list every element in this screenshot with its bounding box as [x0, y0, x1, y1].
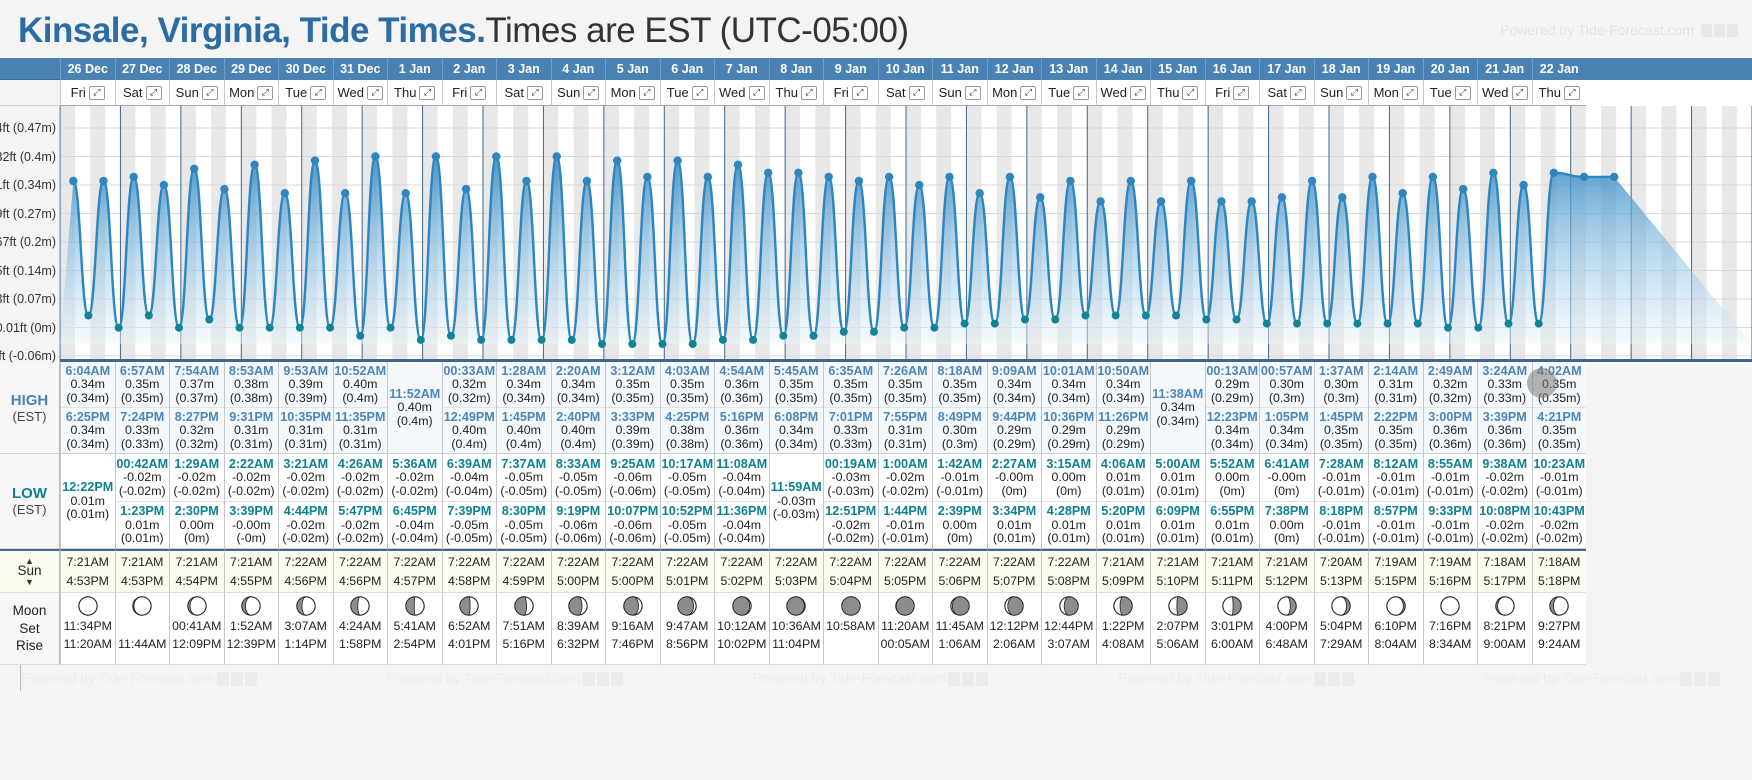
date-header-cell[interactable]: 4 Jan	[551, 58, 606, 80]
moon-rise-time: 5:16PM	[503, 636, 545, 654]
sunrise-time: 7:21AM	[1266, 553, 1308, 571]
tide-height-alt: (0.33m)	[1483, 392, 1526, 405]
tide-time: 1:28AM	[501, 365, 546, 379]
tide-height: -0.04m	[722, 471, 761, 484]
expand-day-icon[interactable]: ⤢	[202, 86, 218, 100]
expand-day-icon[interactable]: ⤢	[89, 86, 105, 100]
tide-time: 9:53AM	[283, 365, 328, 379]
high-tide-label: HIGH (EST)	[0, 362, 60, 454]
weekday-cell: Thu⤢	[769, 80, 824, 106]
date-header-cell[interactable]: 3 Jan	[496, 58, 551, 80]
moon-phase-icon	[731, 595, 753, 617]
tide-height: 0.01m	[1161, 519, 1195, 532]
expand-day-icon[interactable]: ⤢	[749, 86, 765, 100]
tide-time: 5:00AM	[1155, 458, 1200, 472]
sunset-time: 5:16PM	[1429, 572, 1471, 590]
tide-height: 0.31m	[289, 424, 323, 437]
sun-cell: 7:21AM5:09PM	[1096, 549, 1151, 593]
tide-height: 0.32m	[452, 378, 486, 391]
tide-height-alt: (-0.01m)	[936, 485, 983, 498]
tide-height-alt: (0.01m)	[1102, 485, 1145, 498]
low-tide-point	[84, 312, 92, 320]
high-tide-point	[190, 165, 198, 173]
expand-day-icon[interactable]: ⤢	[367, 86, 383, 100]
expand-day-icon[interactable]: ⤢	[1402, 86, 1418, 100]
tide-height: -0.01m	[886, 519, 925, 532]
tide-slot: 4:44PM-0.02m(-0.02m)	[279, 501, 333, 549]
tide-time: 6:09PM	[1156, 505, 1200, 519]
tide-time: 6:55PM	[1210, 505, 1254, 519]
sun-cell: 7:21AM4:53PM	[115, 549, 170, 593]
watermark: Powered by Tide-Forecast.com	[387, 670, 623, 686]
high-tide-point	[220, 185, 228, 193]
tide-height: 0.29m	[1052, 424, 1086, 437]
tide-height-alt: (0.34m)	[66, 438, 109, 451]
tide-height: 0.40m	[452, 424, 486, 437]
moon-cell: 8:21PM9:00AM	[1477, 593, 1532, 665]
tide-slot: 1:44PM-0.01m(-0.01m)	[879, 501, 933, 549]
tide-time: 7:38PM	[1265, 505, 1309, 519]
weekday-label: Mon	[1374, 85, 1399, 100]
moon-phase-icon	[840, 595, 862, 617]
tide-height: -0.02m	[341, 519, 380, 532]
expand-day-icon[interactable]: ⤢	[470, 86, 486, 100]
wave-icon	[217, 672, 229, 686]
tide-height: -0.05m	[668, 519, 707, 532]
moon-set-time: 10:36AM	[772, 618, 821, 636]
tide-time: 2:20AM	[556, 365, 601, 379]
expand-day-icon[interactable]: ⤢	[852, 86, 868, 100]
tide-time: 3:12AM	[610, 365, 655, 379]
expand-day-icon[interactable]: ⤢	[801, 86, 817, 100]
tide-height: -0.00m	[1267, 471, 1306, 484]
tide-height: -0.02m	[831, 519, 870, 532]
tide-height-alt: (0.29m)	[993, 438, 1036, 451]
tide-height: 0.35m	[125, 378, 159, 391]
tide-time: 3:00PM	[1428, 411, 1472, 425]
moon-rise-time: 6:48AM	[1266, 636, 1308, 654]
high-tide-point	[1368, 173, 1376, 181]
low-tide-point	[1142, 312, 1150, 320]
high-tide-point	[1580, 173, 1588, 181]
tide-height-alt: (0.36m)	[720, 438, 763, 451]
low-tide-point	[719, 336, 727, 344]
low-tide-point	[538, 336, 546, 344]
moon-phase-icon	[894, 595, 916, 617]
date-header-cell[interactable]: 8 Jan	[769, 58, 824, 80]
tide-height: 0.35m	[616, 378, 650, 391]
expand-day-icon[interactable]: ⤢	[1233, 86, 1249, 100]
tide-height: 0.34m	[507, 378, 541, 391]
moon-phase-icon	[404, 595, 426, 617]
tide-slot: 2:14AM0.31m(0.31m)	[1369, 362, 1423, 407]
tide-slot: 6:08PM0.34m(0.34m)	[770, 407, 824, 453]
tide-height-alt: (0.3m)	[1269, 392, 1305, 405]
moon-set-time: 6:10PM	[1375, 618, 1417, 636]
date-header-cell[interactable]: 21 Jan	[1477, 58, 1532, 80]
tide-height: -0.01m	[1540, 471, 1579, 484]
date-header-cell[interactable]: 9 Jan	[823, 58, 878, 80]
date-header-cell[interactable]: 30 Dec	[278, 58, 333, 80]
tide-time: 10:52AM	[334, 365, 386, 379]
peak-icon	[611, 672, 623, 686]
low-tide-point	[387, 324, 395, 332]
sunset-time: 4:53PM	[67, 572, 109, 590]
tide-time: 9:38AM	[1482, 458, 1527, 472]
low-tide-cell: 12:22PM0.01m(0.01m)	[60, 454, 115, 549]
date-header-cell[interactable]: 15 Jan	[1150, 58, 1205, 80]
expand-day-icon[interactable]: ⤢	[146, 86, 162, 100]
low-tide-point	[810, 332, 818, 340]
sun-cell: 7:22AM5:04PM	[823, 549, 878, 593]
weekday-cell: Thu⤢	[387, 80, 442, 106]
watermark-text: Powered by Tide-Forecast.com	[387, 670, 581, 686]
tide-slot: 2:27AM-0.00m(0m)	[988, 454, 1042, 501]
tide-height-alt: (0.33m)	[121, 438, 164, 451]
high-tide-cell: 2:14AM0.31m(0.31m)2:22PM0.35m(0.35m)	[1368, 362, 1423, 454]
tide-height: -0.01m	[1431, 471, 1470, 484]
tide-height: 0.00m	[1052, 471, 1086, 484]
tide-time: 9:19PM	[556, 505, 600, 519]
date-header-cell[interactable]: 5 Jan	[605, 58, 660, 80]
tide-height-alt: (0.31m)	[230, 438, 273, 451]
tide-height: 0.33m	[125, 424, 159, 437]
high-tide-point	[704, 173, 712, 181]
expand-day-icon[interactable]: ⤢	[965, 86, 981, 100]
date-header-cell[interactable]: 18 Jan	[1314, 58, 1369, 80]
tide-slot: 6:35AM0.35m(0.35m)	[824, 362, 878, 407]
tide-slot: 6:04AM0.34m(0.34m)	[61, 362, 115, 407]
tide-time: 00:33AM	[443, 365, 495, 379]
tide-slot: 12:22PM0.01m(0.01m)	[61, 454, 115, 548]
tide-slot: 7:54AM0.37m(0.37m)	[170, 362, 224, 407]
sunrise-time: 7:21AM	[1102, 553, 1144, 571]
expand-day-icon[interactable]: ⤢	[1290, 86, 1306, 100]
low-tide-point	[689, 340, 697, 348]
expand-day-icon[interactable]: ⤢	[1512, 86, 1528, 100]
watermark: Powered by Tide-Forecast.com	[1484, 670, 1720, 686]
sun-cell: 7:22AM5:00PM	[551, 549, 606, 593]
date-header-cell[interactable]: 29 Dec	[224, 58, 279, 80]
high-tide-cell: 10:01AM0.34m(0.34m)10:36PM0.29m(0.29m)	[1041, 362, 1096, 454]
tide-height: 0.35m	[1542, 424, 1576, 437]
low-tide-point	[779, 332, 787, 340]
moon-rise-time: 7:46PM	[612, 636, 654, 654]
moon-cell: 6:10PM8:04AM	[1368, 593, 1423, 665]
date-header-cell[interactable]: 13 Jan	[1041, 58, 1096, 80]
moon-phase-icon	[1167, 595, 1189, 617]
tide-time: 12:23PM	[1207, 411, 1258, 425]
tide-chart-row: 1.54ft (0.47m)1.32ft (0.4m)1.11ft (0.34m…	[0, 106, 1752, 362]
moon-cell: 9:16AM7:46PM	[605, 593, 660, 665]
expand-day-icon[interactable]: ⤢	[692, 86, 708, 100]
moon-phase-icon	[1439, 595, 1461, 617]
low-tide-point	[749, 336, 757, 344]
expand-day-icon[interactable]: ⤢	[583, 86, 599, 100]
high-tide-cell: 2:49AM0.32m(0.32m)3:00PM0.36m(0.36m)	[1423, 362, 1478, 454]
high-tide-cell: 8:18AM0.35m(0.35m)8:49PM0.30m(0.3m)	[932, 362, 987, 454]
tide-time: 10:17AM	[661, 458, 713, 472]
tide-height-alt: (-0.04m)	[718, 532, 765, 545]
tide-time: 00:19AM	[825, 458, 877, 472]
date-header-cell[interactable]: 16 Jan	[1205, 58, 1260, 80]
low-tide-point	[326, 324, 334, 332]
refresh-icon	[962, 672, 974, 686]
tide-slot: 2:20AM0.34m(0.34m)	[552, 362, 606, 407]
high-tide-cell: 10:52AM0.40m(0.4m)11:35PM0.31m(0.31m)	[333, 362, 388, 454]
tide-height-alt: (-0.02m)	[228, 485, 275, 498]
expand-day-icon[interactable]: ⤢	[639, 86, 655, 100]
tide-height: 0.35m	[670, 378, 704, 391]
date-header-cell[interactable]: 22 Jan	[1532, 58, 1587, 80]
low-tide-cell: 1:00AM-0.02m(-0.02m)1:44PM-0.01m(-0.01m)	[878, 454, 933, 549]
tide-height-alt: (-0.01m)	[1318, 485, 1365, 498]
tide-height-alt: (0.34m)	[1156, 415, 1199, 428]
weekday-cell: Tue⤢	[660, 80, 715, 106]
sunset-time: 4:54PM	[176, 572, 218, 590]
footer-watermarks: Powered by Tide-Forecast.comPowered by T…	[20, 665, 1752, 691]
moon-phase-icon	[1548, 595, 1570, 617]
low-tide-point	[900, 324, 908, 332]
low-tide-row: LOW (EST) 12:22PM0.01m(0.01m)00:42AM-0.0…	[0, 454, 1752, 549]
high-tide-cells: 6:04AM0.34m(0.34m)6:25PM0.34m(0.34m)6:57…	[60, 362, 1752, 454]
weekday-label: Fri	[452, 85, 467, 100]
high-tide-point	[1157, 197, 1165, 205]
date-header-cell[interactable]: 7 Jan	[714, 58, 769, 80]
page-title-timezone: Times are EST (UTC-05:00)	[485, 11, 908, 50]
tide-height-alt: (-0.06m)	[609, 485, 656, 498]
low-tide-point	[598, 340, 606, 348]
tide-height-alt: (0.4m)	[506, 438, 542, 451]
y-axis-label: 0.67ft (0.2m)	[0, 235, 56, 249]
expand-day-icon[interactable]: ⤢	[1073, 86, 1089, 100]
low-tide-point	[507, 336, 515, 344]
tide-time: 11:35PM	[335, 411, 385, 425]
high-tide-cell: 4:02AM0.35m(0.35m)4:21PM0.35m(0.35m)	[1532, 362, 1587, 454]
tide-time: 7:54AM	[174, 365, 219, 379]
tide-height: 0.30m	[1324, 378, 1358, 391]
tide-slot: 7:37AM-0.05m(-0.05m)	[497, 454, 551, 501]
tide-chart-plot	[60, 106, 1752, 362]
y-axis-label: 1.11ft (0.34m)	[0, 178, 56, 192]
high-tide-point	[522, 177, 530, 185]
moon-lit-portion	[406, 597, 415, 615]
date-header-cell[interactable]: 31 Dec	[333, 58, 388, 80]
high-tide-cell: 5:45AM0.35m(0.35m)6:08PM0.34m(0.34m)	[769, 362, 824, 454]
wave-icon	[948, 672, 960, 686]
low-tide-point	[296, 324, 304, 332]
tide-height: -0.02m	[177, 471, 216, 484]
date-header-cell[interactable]: 1 Jan	[387, 58, 442, 80]
tide-slot: 8:53AM0.38m(0.38m)	[225, 362, 279, 407]
tide-height: -0.01m	[940, 471, 979, 484]
expand-day-icon[interactable]: ⤢	[527, 86, 543, 100]
tide-height: 0.35m	[1379, 424, 1413, 437]
date-header-cell[interactable]: 19 Jan	[1368, 58, 1423, 80]
tide-height: 0.39m	[289, 378, 323, 391]
expand-day-icon[interactable]: ⤢	[1130, 86, 1146, 100]
tide-time: 2:30PM	[175, 505, 219, 519]
expand-day-icon[interactable]: ⤢	[1182, 86, 1198, 100]
moon-rise-time: 12:39PM	[227, 636, 276, 654]
high-tide-point	[1036, 193, 1044, 201]
tide-height-alt: (-0.05m)	[446, 532, 493, 545]
tide-slot: 11:36PM-0.04m(-0.04m)	[715, 501, 769, 549]
tide-slot: 6:25PM0.34m(0.34m)	[61, 407, 115, 453]
tide-height-alt: (0.33m)	[829, 438, 872, 451]
sunset-time: 5:01PM	[666, 572, 708, 590]
weekday-cell: Sat⤢	[115, 80, 170, 106]
expand-day-icon[interactable]: ⤢	[257, 86, 273, 100]
moon-cell: 4:00PM6:48AM	[1259, 593, 1314, 665]
sunrise-time: 7:22AM	[666, 553, 708, 571]
tide-height-alt: (-0.02m)	[282, 532, 329, 545]
low-tide-cell: 2:27AM-0.00m(0m)3:34PM0.01m(0.01m)	[987, 454, 1042, 549]
expand-day-icon[interactable]: ⤢	[419, 86, 435, 100]
tide-slot: 8:18PM-0.01m(-0.01m)	[1315, 501, 1369, 549]
tide-time: 10:52PM	[662, 505, 713, 519]
tide-time: 6:25PM	[66, 411, 110, 425]
sunrise-time: 7:21AM	[230, 553, 272, 571]
sun-cell: 7:22AM5:00PM	[605, 549, 660, 593]
low-tide-cell: 8:12AM-0.01m(-0.01m)8:57PM-0.01m(-0.01m)	[1368, 454, 1423, 549]
moon-lit-portion	[733, 597, 750, 615]
tide-time: 2:49AM	[1428, 365, 1473, 379]
tide-height: -0.02m	[286, 519, 325, 532]
tide-time: 8:18AM	[937, 365, 982, 379]
low-tide-point	[236, 324, 244, 332]
high-tide-point	[1429, 173, 1437, 181]
tide-slot: 6:39AM-0.04m(-0.04m)	[443, 454, 497, 501]
moon-set-time: 9:16AM	[612, 618, 654, 636]
expand-day-icon[interactable]: ⤢	[310, 86, 326, 100]
low-tide-cell: 11:08AM-0.04m(-0.04m)11:36PM-0.04m(-0.04…	[714, 454, 769, 549]
low-tide-cell: 5:36AM-0.02m(-0.02m)6:45PM-0.04m(-0.04m)	[387, 454, 442, 549]
sunset-time: 5:10PM	[1157, 572, 1199, 590]
tide-slot: 1:05PM0.34m(0.34m)	[1260, 407, 1314, 453]
tide-height: 0.00m	[180, 519, 214, 532]
date-header-cell[interactable]: 14 Jan	[1096, 58, 1151, 80]
weekday-cell: Tue⤢	[1041, 80, 1096, 106]
moon-phase-icon	[513, 595, 535, 617]
tide-time: 11:38AM	[1152, 388, 1203, 402]
tide-slot: 9:25AM-0.06m(-0.06m)	[606, 454, 660, 501]
high-tide-point	[1248, 197, 1256, 205]
moon-rise-time: 2:54PM	[394, 636, 436, 654]
moon-rise-time: 9:00AM	[1484, 636, 1526, 654]
weekday-label: Thu	[1157, 85, 1179, 100]
tide-slot: 8:49PM0.30m(0.3m)	[933, 407, 987, 453]
date-header-cell[interactable]: 27 Dec	[115, 58, 170, 80]
expand-day-icon[interactable]: ⤢	[1020, 86, 1036, 100]
moon-phase-icon	[458, 595, 480, 617]
date-header-cell[interactable]: 28 Dec	[169, 58, 224, 80]
high-tide-label-tz: (EST)	[13, 409, 47, 424]
tide-slot: 9:09AM0.34m(0.34m)	[988, 362, 1042, 407]
weekday-cell: Wed⤢	[1096, 80, 1151, 106]
expand-day-icon[interactable]: ⤢	[1455, 86, 1471, 100]
tide-height: -0.05m	[504, 519, 543, 532]
tide-height-alt: (-0.02m)	[119, 485, 166, 498]
moon-rise-time: 8:34AM	[1429, 636, 1471, 654]
date-header-cell[interactable]: 20 Jan	[1423, 58, 1478, 80]
tide-height: 0.00m	[1270, 519, 1304, 532]
date-header-cell[interactable]: 2 Jan	[442, 58, 497, 80]
sun-cell: 7:22AM5:01PM	[660, 549, 715, 593]
low-tide-cell: 5:52AM0.00m(0m)6:55PM0.01m(0.01m)	[1205, 454, 1260, 549]
tide-slot: 5:52AM0.00m(0m)	[1206, 454, 1260, 501]
expand-day-icon[interactable]: ⤢	[1346, 86, 1362, 100]
tide-slot: 1:28AM0.34m(0.34m)	[497, 362, 551, 407]
tide-height: 0.01m	[1106, 471, 1140, 484]
high-tide-point	[855, 177, 863, 185]
date-header-cell[interactable]: 17 Jan	[1259, 58, 1314, 80]
tide-slot: 5:16PM0.36m(0.36m)	[715, 407, 769, 453]
low-tide-point	[266, 324, 274, 332]
high-tide-cell: 9:09AM0.34m(0.34m)9:44PM0.29m(0.29m)	[987, 362, 1042, 454]
tide-time: 8:33AM	[556, 458, 601, 472]
tide-time: 7:28AM	[1319, 458, 1364, 472]
weekday-label: Wed	[719, 85, 746, 100]
tide-slot: 8:30PM-0.05m(-0.05m)	[497, 501, 551, 549]
tide-slot: 2:39PM0.00m(0m)	[933, 501, 987, 549]
date-header-cell[interactable]: 12 Jan	[987, 58, 1042, 80]
tide-height: 0.35m	[834, 378, 868, 391]
moon-phase-icon	[77, 595, 99, 617]
expand-day-icon[interactable]: ⤢	[1564, 86, 1580, 100]
tide-time: 4:54AM	[719, 365, 764, 379]
date-header-cell[interactable]: 6 Jan	[660, 58, 715, 80]
tide-height: 0.01m	[1106, 519, 1140, 532]
tide-height: 0.01m	[1052, 519, 1086, 532]
date-header-cell[interactable]: 10 Jan	[878, 58, 933, 80]
tide-slot: 4:25PM0.38m(0.38m)	[661, 407, 715, 453]
expand-day-icon[interactable]: ⤢	[909, 86, 925, 100]
tide-height-alt: (0.35m)	[1538, 392, 1581, 405]
high-tide-point	[1066, 177, 1074, 185]
tide-slot: 4:06AM0.01m(0.01m)	[1097, 454, 1151, 501]
high-tide-point	[1519, 181, 1527, 189]
moon-phase-icon	[1385, 595, 1407, 617]
high-tide-cell: 10:50AM0.34m(0.34m)11:26PM0.29m(0.29m)	[1096, 362, 1151, 454]
tide-time: 8:57PM	[1374, 505, 1418, 519]
tide-time: 12:51PM	[825, 505, 876, 519]
brand-icons-top	[1699, 24, 1738, 40]
tide-height: -0.06m	[613, 471, 652, 484]
low-tide-label-tz: (EST)	[13, 502, 47, 517]
sunrise-time: 7:22AM	[830, 553, 872, 571]
tide-height: 0.29m	[1106, 424, 1140, 437]
moon-cell: 2:07PM5:06AM	[1150, 593, 1205, 665]
high-tide-cell: 11:52AM0.40m(0.4m)	[387, 362, 442, 454]
refresh-icon	[1328, 672, 1340, 686]
tide-height: 0.34m	[779, 424, 813, 437]
weekday-label: Sun	[557, 85, 580, 100]
chart-band	[1737, 106, 1752, 362]
moon-set-time: 8:21PM	[1484, 618, 1526, 636]
low-tide-cell: 4:26AM-0.02m(-0.02m)5:47PM-0.02m(-0.02m)	[333, 454, 388, 549]
watermark-text: Powered by Tide-Forecast.com	[1484, 670, 1678, 686]
tide-height-alt: (-0.02m)	[1481, 532, 1528, 545]
high-tide-point	[915, 181, 923, 189]
date-header-cell[interactable]: 11 Jan	[932, 58, 987, 80]
tide-height: 0.36m	[725, 424, 759, 437]
tide-time: 4:03AM	[665, 365, 710, 379]
date-header-cell[interactable]: 26 Dec	[60, 58, 115, 80]
tide-height-alt: (0.38m)	[230, 392, 273, 405]
weekday-cell: Sat⤢	[878, 80, 933, 106]
low-tide-point	[628, 340, 636, 348]
